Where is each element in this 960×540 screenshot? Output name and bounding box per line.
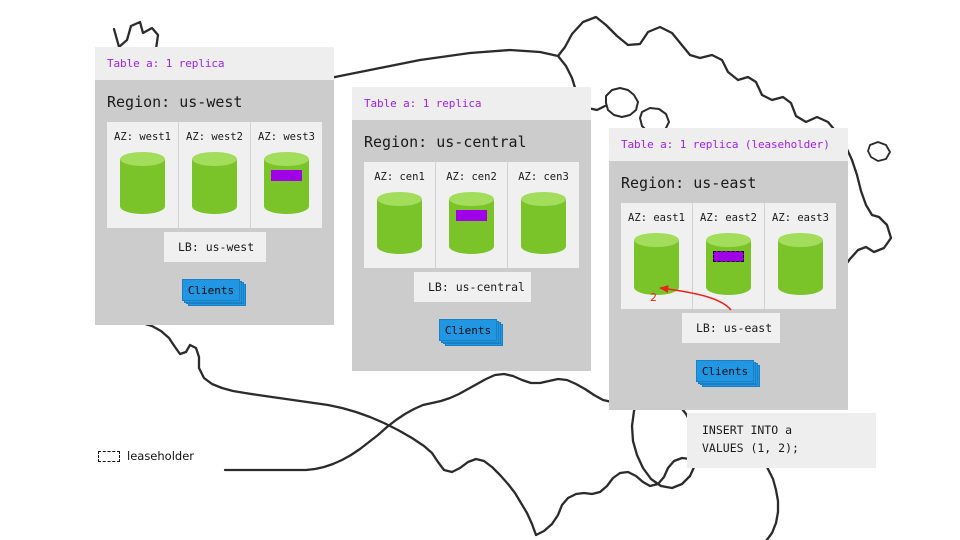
region-panel-us-east: Table a: 1 replica (leaseholder) Region:… (609, 128, 848, 410)
legend-leaseholder: leaseholder (98, 449, 194, 463)
clients-label: Clients (439, 319, 497, 341)
database-node-icon (778, 233, 823, 295)
panel-title-us-west: Table a: 1 replica (95, 47, 334, 80)
legend-label: leaseholder (127, 449, 194, 463)
database-node-icon (449, 192, 494, 254)
database-node-icon (377, 192, 422, 254)
az-label: AZ: east3 (772, 212, 829, 224)
az-container-us-central: AZ: cen1 AZ: cen2 AZ: cen3 (364, 162, 579, 268)
az-label: AZ: cen2 (446, 171, 497, 183)
database-node-icon (521, 192, 566, 254)
database-node-icon (634, 233, 679, 295)
az-label: AZ: west1 (114, 131, 171, 143)
sql-statement-note: INSERT INTO a VALUES (1, 2); (687, 413, 876, 468)
clients-button-us-east[interactable]: Clients (696, 360, 760, 386)
leaseholder-swatch-icon (98, 451, 120, 462)
az-cell-cen3[interactable]: AZ: cen3 (507, 162, 579, 268)
diagram-canvas: Table a: 1 replica Region: us-west AZ: w… (0, 0, 960, 540)
database-node-icon (706, 233, 751, 295)
az-cell-west1[interactable]: AZ: west1 (107, 122, 178, 228)
clients-button-us-central[interactable]: Clients (439, 319, 503, 345)
az-label: AZ: cen3 (518, 171, 569, 183)
load-balancer-us-west[interactable]: LB: us-west (164, 232, 266, 262)
load-balancer-us-east[interactable]: LB: us-east (682, 313, 780, 343)
az-cell-west3[interactable]: AZ: west3 (250, 122, 322, 228)
replica-indicator (456, 210, 487, 221)
region-label-us-central: Region: us-central (352, 120, 591, 162)
az-label: AZ: east2 (700, 212, 757, 224)
load-balancer-us-central[interactable]: LB: us-central (414, 272, 531, 302)
az-cell-cen2[interactable]: AZ: cen2 (435, 162, 507, 268)
database-node-icon (264, 152, 309, 214)
az-cell-east3[interactable]: AZ: east3 (764, 203, 836, 309)
annotation-step-number: 2 (650, 291, 657, 304)
az-label: AZ: east1 (628, 212, 685, 224)
region-panel-us-central: Table a: 1 replica Region: us-central AZ… (352, 87, 591, 371)
leaseholder-replica-indicator (713, 251, 744, 262)
database-node-icon (120, 152, 165, 214)
az-container-us-west: AZ: west1 AZ: west2 AZ: west3 (107, 122, 322, 228)
az-cell-west2[interactable]: AZ: west2 (178, 122, 250, 228)
clients-label: Clients (696, 360, 754, 382)
sql-statement-text: INSERT INTO a VALUES (1, 2); (702, 423, 799, 455)
az-cell-cen1[interactable]: AZ: cen1 (364, 162, 435, 268)
database-node-icon (192, 152, 237, 214)
az-cell-east2[interactable]: AZ: east2 (692, 203, 764, 309)
region-panel-us-west: Table a: 1 replica Region: us-west AZ: w… (95, 47, 334, 325)
az-label: AZ: cen1 (374, 171, 425, 183)
clients-label: Clients (182, 279, 240, 301)
az-label: AZ: west2 (186, 131, 243, 143)
replica-indicator (271, 170, 302, 181)
panel-title-us-east: Table a: 1 replica (leaseholder) (609, 128, 848, 161)
region-label-us-east: Region: us-east (609, 161, 848, 203)
panel-title-us-central: Table a: 1 replica (352, 87, 591, 120)
region-label-us-west: Region: us-west (95, 80, 334, 122)
az-label: AZ: west3 (258, 131, 315, 143)
clients-button-us-west[interactable]: Clients (182, 279, 246, 305)
